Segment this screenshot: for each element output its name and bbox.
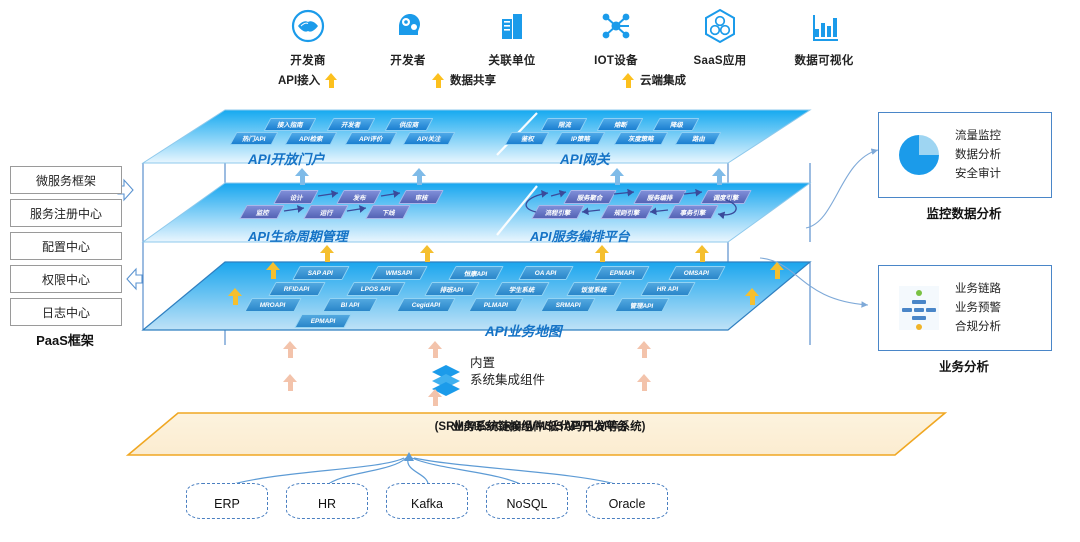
paas-item-label: 日志中心 <box>42 304 90 321</box>
panel-line: 数据分析 <box>955 146 1001 165</box>
paas-item-4[interactable]: 权限中心 <box>10 265 122 293</box>
integration-line2: 系统集成组件 <box>470 372 545 389</box>
paas-item-5[interactable]: 日志中心 <box>10 298 122 326</box>
paas-item-label: 微服务框架 <box>36 172 96 189</box>
database-label: Oracle <box>609 497 646 511</box>
panel-business-analysis[interactable]: 业务链路 业务预警 合规分析 <box>878 265 1052 351</box>
paas-item-3[interactable]: 配置中心 <box>10 232 122 260</box>
panel-line: 业务链路 <box>955 280 1001 299</box>
database-nosql[interactable]: NoSQL <box>486 483 568 519</box>
integration-caption: 内置 系统集成组件 <box>470 355 545 389</box>
paas-item-label: 权限中心 <box>42 271 90 288</box>
database-hr[interactable]: HR <box>286 483 368 519</box>
topology-icon <box>891 280 947 336</box>
paas-title: PaaS框架 <box>10 330 120 349</box>
paas-item-2[interactable]: 服务注册中心 <box>10 199 122 227</box>
panel-monitoring[interactable]: 流量监控 数据分析 安全审计 <box>878 112 1052 198</box>
paas-item-1[interactable]: 微服务框架 <box>10 166 122 194</box>
database-label: NoSQL <box>507 497 548 511</box>
paas-item-label: 配置中心 <box>42 238 90 255</box>
panel-line: 业务预警 <box>955 299 1001 318</box>
platform-line2: (SRM/MES/CRM/WMS/SAP/PLM等系统) <box>0 419 1080 435</box>
panel-caption-business: 业务分析 <box>878 356 1050 375</box>
paas-item-label: 服务注册中心 <box>30 205 102 222</box>
panel-line: 合规分析 <box>955 318 1001 337</box>
database-label: ERP <box>214 497 240 511</box>
database-label: HR <box>318 497 336 511</box>
pie-chart-icon <box>891 127 947 183</box>
database-oracle[interactable]: Oracle <box>586 483 668 519</box>
panel-caption-monitoring: 监控数据分析 <box>878 203 1050 222</box>
panel-line: 流量监控 <box>955 127 1001 146</box>
panel-line: 安全审计 <box>955 165 1001 184</box>
integration-line1: 内置 <box>470 355 545 372</box>
database-kafka[interactable]: Kafka <box>386 483 468 519</box>
database-erp[interactable]: ERP <box>186 483 268 519</box>
database-label: Kafka <box>411 497 443 511</box>
